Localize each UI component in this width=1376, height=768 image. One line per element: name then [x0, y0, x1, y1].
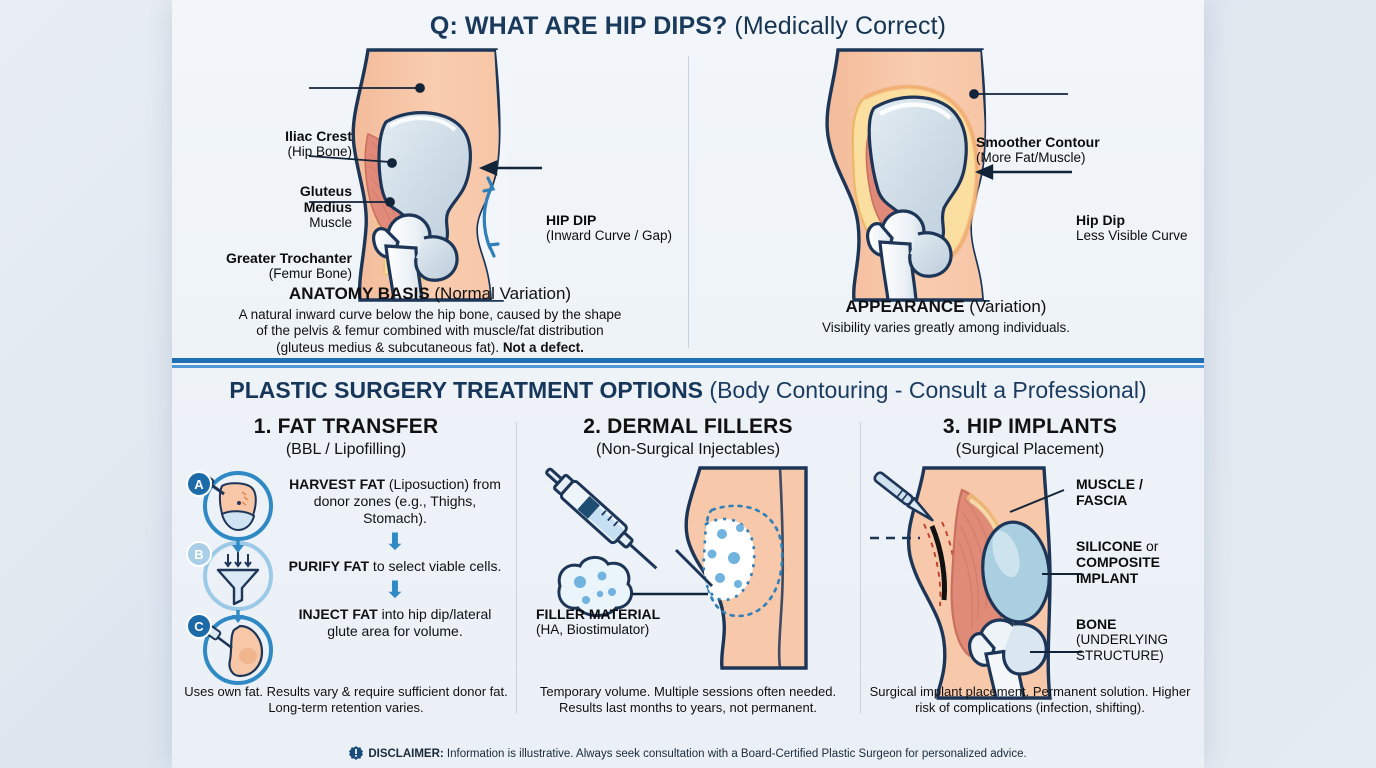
caption-appearance-heading: APPEARANCE (Variation)	[700, 297, 1192, 318]
caption-anatomy-line3-b: Not a defect.	[503, 340, 584, 355]
caption-anatomy-line3: (gluteus medius & subcutaneous fat). Not…	[184, 340, 676, 356]
label-bone-line2: (UNDERLYING	[1076, 632, 1216, 648]
caption-anatomy-heading: ANATOMY BASIS (Normal Variation)	[184, 284, 676, 305]
label-hip-dip-line2: (Inward Curve / Gap)	[546, 228, 696, 244]
step-purify-fat-rest: to select viable cells.	[369, 558, 501, 574]
page-title-bold: Q: WHAT ARE HIP DIPS?	[430, 12, 727, 40]
label-gluteus-medius-line2: Muscle	[192, 215, 352, 231]
disclaimer-bar: DISCLAIMER: Information is illustrative.…	[172, 746, 1204, 760]
step-inject-fat-bold: INJECT FAT	[299, 606, 378, 622]
step-badge-c: C	[187, 614, 211, 638]
column-hip-implants-heading: 3. HIP IMPLANTS (Surgical Placement)	[860, 414, 1200, 459]
column-hip-implants-subtitle: (Surgical Placement)	[860, 440, 1200, 459]
step-purify-fat: PURIFY FAT to select viable cells.	[282, 558, 508, 575]
label-bone-line3: STRUCTURE)	[1076, 648, 1216, 664]
svg-text:C: C	[194, 619, 204, 634]
infographic-canvas: Q: WHAT ARE HIP DIPS? (Medically Correct…	[0, 0, 1376, 768]
info-badge-icon	[349, 746, 363, 760]
label-smoother-contour-line2: (More Fat/Muscle)	[976, 150, 1196, 166]
svg-text:B: B	[194, 547, 203, 562]
caption-anatomy-body: A natural inward curve below the hip bon…	[184, 307, 676, 356]
section-divider	[172, 358, 1204, 370]
arrow-down-icon-2: ⬇	[282, 579, 508, 601]
label-greater-trochanter-line1: Greater Trochanter	[182, 250, 352, 266]
label-gluteus-medius: Gluteus Medius Muscle	[192, 183, 352, 231]
label-hip-dip-less-visible: Hip Dip Less Visible Curve	[1076, 212, 1246, 244]
caption-anatomy-line3-a: (gluteus medius & subcutaneous fat).	[276, 340, 503, 355]
label-muscle-fascia-line2: FASCIA	[1076, 492, 1206, 508]
label-smoother-contour: Smoother Contour (More Fat/Muscle)	[976, 134, 1196, 166]
column-dermal-fillers-title: 2. DERMAL FILLERS	[516, 414, 860, 439]
label-implant-line2: COMPOSITE	[1076, 554, 1216, 570]
caption-anatomy-heading-bold: ANATOMY BASIS	[289, 284, 430, 303]
label-implant-line1-main: SILICONE	[1076, 538, 1142, 554]
hip-dip-pointer-right	[978, 166, 1072, 178]
label-greater-trochanter-line2: (Femur Bone)	[182, 266, 352, 282]
treatment-section-title-normal: (Body Contouring - Consult a Professiona…	[703, 377, 1147, 403]
label-gluteus-medius-line1b: Medius	[192, 199, 352, 215]
hip-dip-pointer-left	[482, 162, 542, 174]
label-muscle-fascia: MUSCLE / FASCIA	[1076, 476, 1206, 508]
label-bone-line1: BONE	[1076, 616, 1216, 632]
anatomy-section: Iliac Crest (Hip Bone) Gluteus Medius Mu…	[172, 50, 1204, 358]
caption-anatomy-heading-normal: (Normal Variation)	[430, 284, 571, 303]
caption-anatomy-line2: of the pelvis & femur combined with musc…	[184, 323, 676, 339]
fat-transfer-steps: HARVEST FAT (Liposuction) from donor zon…	[282, 476, 508, 640]
page-title: Q: WHAT ARE HIP DIPS? (Medically Correct…	[172, 12, 1204, 41]
label-implant-line3: IMPLANT	[1076, 570, 1216, 586]
svg-text:A: A	[194, 477, 204, 492]
divider-line-secondary	[172, 365, 1204, 368]
column-fat-transfer-subtitle: (BBL / Lipofilling)	[176, 440, 516, 459]
caption-appearance-heading-normal: (Variation)	[965, 297, 1047, 316]
label-greater-trochanter: Greater Trochanter (Femur Bone)	[182, 250, 352, 282]
step-harvest-fat-bold: HARVEST FAT	[289, 476, 385, 492]
dermal-filler-illustration	[516, 468, 860, 668]
disclaimer-label: DISCLAIMER:	[368, 748, 443, 760]
column-dermal-fillers-subtitle: (Non-Surgical Injectables)	[516, 440, 860, 459]
step-badge-a: A	[187, 472, 211, 496]
caption-appearance-body: Visibility varies greatly among individu…	[700, 320, 1192, 336]
label-filler-material-line1: FILLER MATERIAL	[536, 606, 756, 622]
arrow-down-icon-1: ⬇	[282, 531, 508, 553]
column-fat-transfer-footer: Uses own fat. Results vary & require suf…	[184, 684, 508, 717]
column-dermal-fillers-heading: 2. DERMAL FILLERS (Non-Surgical Injectab…	[516, 414, 860, 459]
step-inject-fat: INJECT FAT into hip dip/lateral glute ar…	[282, 606, 508, 640]
label-implant: SILICONE or COMPOSITE IMPLANT	[1076, 538, 1216, 587]
label-iliac-crest-line2: (Hip Bone)	[192, 144, 352, 160]
column-hip-implants-title: 3. HIP IMPLANTS	[860, 414, 1200, 439]
caption-anatomy-basis: ANATOMY BASIS (Normal Variation) A natur…	[184, 284, 676, 356]
label-muscle-fascia-line1: MUSCLE /	[1076, 476, 1206, 492]
label-hip-dip-less-line1: Hip Dip	[1076, 212, 1246, 228]
label-smoother-contour-line1: Smoother Contour	[976, 134, 1196, 150]
label-bone: BONE (UNDERLYING STRUCTURE)	[1076, 616, 1216, 664]
treatment-columns: 1. FAT TRANSFER (BBL / Lipofilling)	[172, 414, 1204, 734]
pubis-ischium-right	[910, 233, 951, 276]
label-gluteus-medius-line1: Gluteus	[192, 183, 352, 199]
column-fat-transfer: 1. FAT TRANSFER (BBL / Lipofilling)	[176, 414, 516, 734]
page-title-normal: (Medically Correct)	[727, 12, 946, 40]
caption-anatomy-line1: A natural inward curve below the hip bon…	[184, 307, 676, 323]
anatomy-illustration-right	[688, 50, 1204, 300]
divider-line-primary	[172, 358, 1204, 363]
step-purify-fat-bold: PURIFY FAT	[289, 558, 369, 574]
step-badge-b: B	[187, 542, 211, 566]
infographic-card: Q: WHAT ARE HIP DIPS? (Medically Correct…	[172, 0, 1204, 768]
label-filler-material: FILLER MATERIAL (HA, Biostimulator)	[536, 606, 756, 638]
caption-appearance-heading-bold: APPEARANCE	[846, 297, 965, 316]
caption-appearance: APPEARANCE (Variation) Visibility varies…	[700, 297, 1192, 336]
column-hip-implants: 3. HIP IMPLANTS (Surgical Placement)	[860, 414, 1200, 734]
label-hip-dip-line1: HIP DIP	[546, 212, 696, 228]
disclaimer-text: Information is illustrative. Always seek…	[444, 748, 1027, 760]
panel-anatomy-basis: Iliac Crest (Hip Bone) Gluteus Medius Mu…	[172, 50, 688, 358]
label-iliac-crest: Iliac Crest (Hip Bone)	[192, 128, 352, 160]
column-fat-transfer-heading: 1. FAT TRANSFER (BBL / Lipofilling)	[176, 414, 516, 459]
pubis-ischium	[416, 237, 457, 280]
label-implant-line1-suffix: or	[1142, 538, 1158, 554]
step-harvest-fat: HARVEST FAT (Liposuction) from donor zon…	[282, 476, 508, 527]
column-hip-implants-footer: Surgical implant placement. Permanent so…	[868, 684, 1192, 717]
column-fat-transfer-title: 1. FAT TRANSFER	[176, 414, 516, 439]
femur-shaft-right	[880, 242, 916, 300]
panel-appearance: Smoother Contour (More Fat/Muscle) Hip D…	[688, 50, 1204, 358]
label-implant-line1: SILICONE or	[1076, 538, 1216, 554]
treatment-section-title: PLASTIC SURGERY TREATMENT OPTIONS (Body …	[172, 377, 1204, 404]
label-iliac-crest-line1: Iliac Crest	[192, 128, 352, 144]
label-hip-dip-less-line2: Less Visible Curve	[1076, 228, 1246, 244]
column-dermal-fillers: 2. DERMAL FILLERS (Non-Surgical Injectab…	[516, 414, 860, 734]
column-dermal-fillers-footer: Temporary volume. Multiple sessions ofte…	[524, 684, 852, 717]
inject-glute-icon	[204, 625, 262, 676]
label-hip-dip: HIP DIP (Inward Curve / Gap)	[546, 212, 696, 244]
label-filler-material-line2: (HA, Biostimulator)	[536, 622, 756, 638]
funnel-purify-icon	[218, 552, 258, 604]
treatment-section-title-bold: PLASTIC SURGERY TREATMENT OPTIONS	[229, 377, 703, 403]
